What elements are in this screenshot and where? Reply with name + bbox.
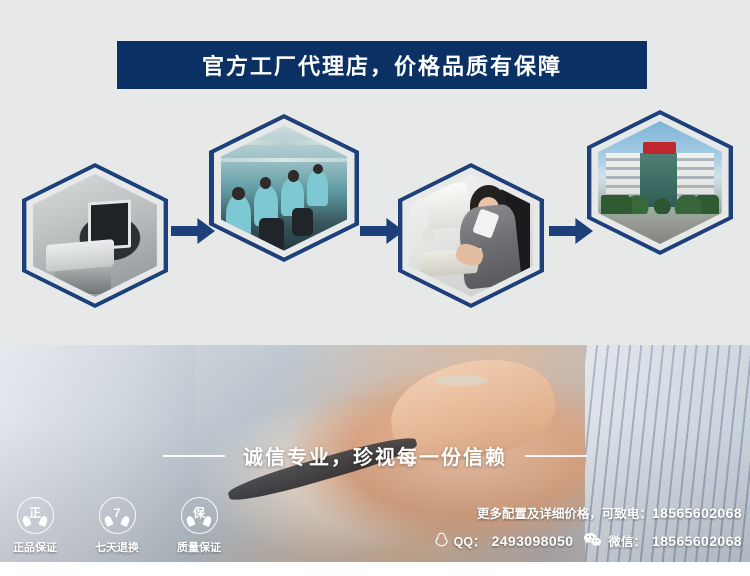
- tagline-rule-right: [525, 455, 587, 457]
- phone-number[interactable]: 18565602068: [652, 505, 742, 521]
- photo-office: [409, 174, 533, 297]
- hands-shape: [23, 516, 47, 526]
- mouse-shape: [422, 228, 436, 241]
- hands-holding-icon: 保: [181, 497, 218, 534]
- tagline-text: 诚信专业，珍视每一份信赖: [243, 441, 507, 470]
- bottom-section: 诚信专业，珍视每一份信赖 正 正品保证 7 七天退换: [0, 345, 750, 562]
- hexagon-frame: [209, 114, 359, 262]
- road-shape: [598, 219, 722, 244]
- arrow-shaft: [171, 226, 198, 236]
- badge-seven-day-return: 7 七天退换: [88, 497, 146, 555]
- process-step-office: [398, 163, 544, 308]
- bottom-white-strip: [0, 562, 750, 576]
- process-step-equipment: [22, 163, 168, 308]
- qq-label: QQ：: [454, 531, 486, 550]
- process-step-building: [587, 110, 733, 255]
- hexagon-inner-gap: [402, 167, 539, 303]
- hand-right-shape: [202, 515, 212, 527]
- wechat-number[interactable]: 18565602068: [652, 533, 742, 549]
- title-banner: 官方工厂代理店，价格品质有保障: [117, 41, 647, 89]
- hexagon-photo-clip: [409, 174, 533, 297]
- photo-equipment: [33, 174, 157, 297]
- tagline-row: 诚信专业，珍视每一份信赖: [0, 441, 750, 470]
- hexagon-photo-clip: [221, 125, 348, 250]
- hand-left-shape: [185, 515, 195, 527]
- worker-head-shape: [288, 170, 299, 181]
- hands-shape: [105, 516, 129, 526]
- hexagon-frame: [398, 163, 544, 308]
- badge-quality: 保 质量保证: [170, 497, 228, 555]
- hexagon-frame: [587, 110, 733, 255]
- badge-label: 七天退换: [95, 539, 139, 555]
- worker-shape: [226, 195, 251, 238]
- chair-shape: [259, 218, 284, 251]
- photo-factory: [221, 125, 348, 250]
- hexagon-frame: [22, 163, 168, 308]
- phone-prefix-label: 更多配置及详细价格，可致电：: [477, 507, 652, 521]
- worker-head-shape: [232, 187, 245, 201]
- qq-number[interactable]: 2493098050: [492, 533, 574, 549]
- photo-building: [598, 121, 722, 244]
- machine-dot-shape: [65, 250, 81, 257]
- top-section: 官方工厂代理店，价格品质有保障: [0, 0, 750, 345]
- building-sign-shape: [643, 142, 676, 154]
- machine-base-shape: [55, 262, 111, 294]
- wechat-label: 微信：: [608, 531, 646, 550]
- hand-left-shape: [21, 515, 31, 527]
- chair-shape: [292, 208, 314, 236]
- hexagon-inner-gap: [26, 167, 163, 303]
- hexagon-photo-clip: [33, 174, 157, 297]
- hand-left-shape: [103, 515, 113, 527]
- badge-label: 质量保证: [177, 539, 221, 555]
- page-title: 官方工厂代理店，价格品质有保障: [202, 49, 562, 81]
- hand-right-shape: [120, 515, 130, 527]
- trust-badges: 正 正品保证 7 七天退换 保: [6, 497, 228, 555]
- im-line: QQ：2493098050 微信：18565602068: [435, 531, 742, 550]
- badge-label: 正品保证: [13, 539, 57, 555]
- arrow-shaft: [549, 226, 576, 236]
- assembly-rail-shape: [221, 158, 348, 162]
- assembly-rail-shape: [221, 140, 348, 145]
- worker-shape: [307, 170, 329, 205]
- process-step-factory: [209, 114, 359, 262]
- hand-right-shape: [38, 515, 48, 527]
- machine-dot-shape: [85, 253, 101, 260]
- contact-block: 更多配置及详细价格，可致电：18565602068 QQ：2493098050: [435, 503, 742, 550]
- arrow-shaft: [360, 226, 387, 236]
- trees-shape: [601, 195, 720, 215]
- hexagon-inner-gap: [214, 118, 355, 257]
- qq-penguin-icon[interactable]: [435, 532, 448, 550]
- phone-line: 更多配置及详细价格，可致电：18565602068: [435, 503, 742, 522]
- hands-holding-icon: 7: [99, 497, 136, 534]
- tagline-rule-left: [163, 455, 225, 457]
- hands-shape: [187, 516, 211, 526]
- hexagon-inner-gap: [591, 114, 728, 250]
- hands-holding-icon: 正: [17, 497, 54, 534]
- badge-authentic: 正 正品保证: [6, 497, 64, 555]
- hexagon-photo-clip: [598, 121, 722, 244]
- wechat-icon[interactable]: [583, 532, 602, 550]
